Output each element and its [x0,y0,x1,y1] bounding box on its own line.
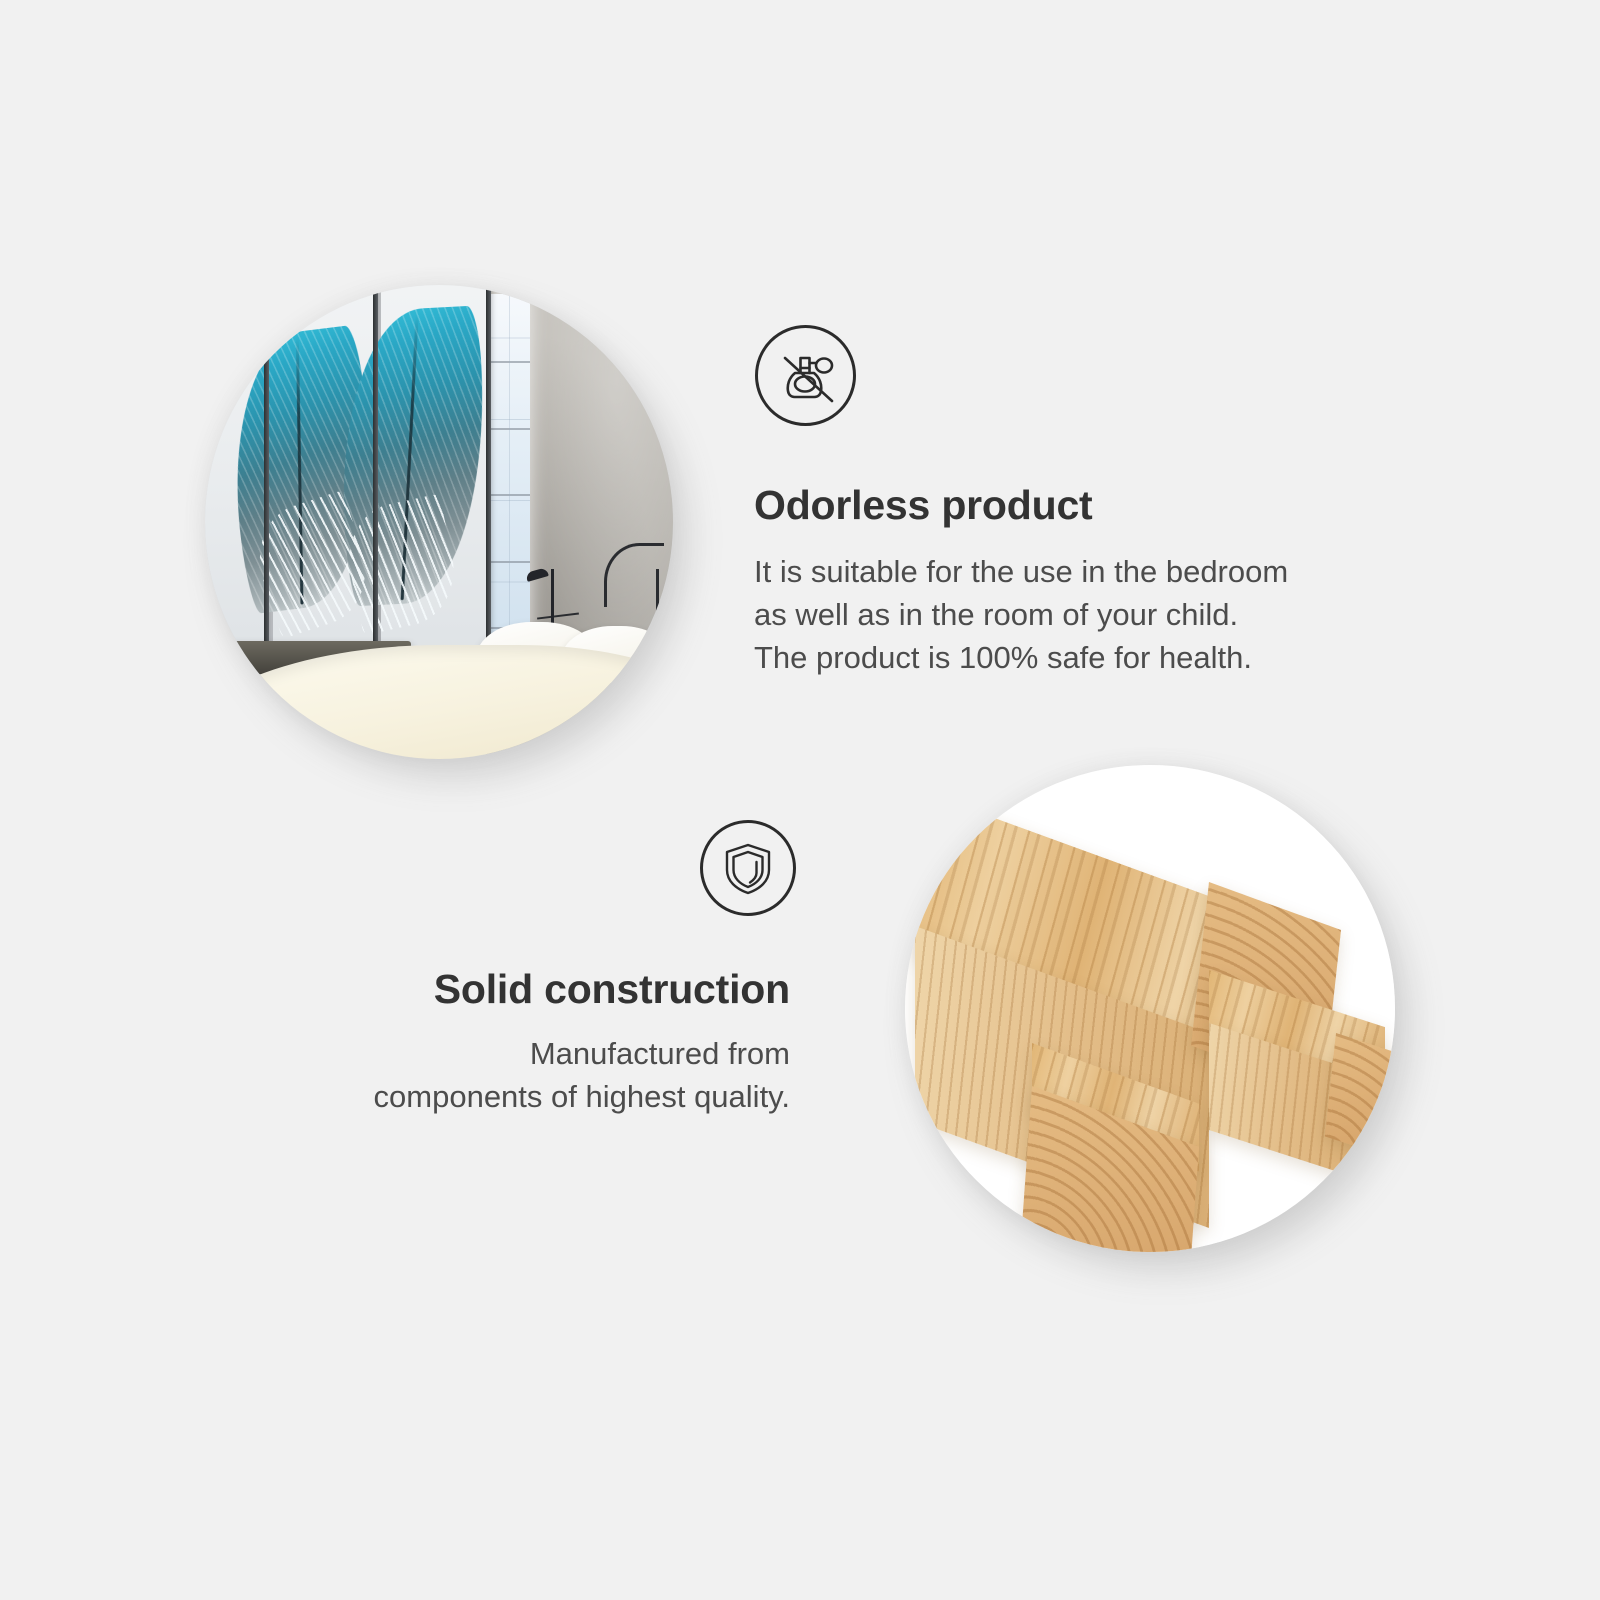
glass-block-window [488,294,530,664]
wood-photo-circle [905,765,1395,1252]
panel-divider [486,285,491,655]
bedroom-photo-circle [205,285,673,759]
body-line: components of highest quality. [374,1075,790,1118]
bedroom-scene [205,285,673,759]
feature-title-odorless: Odorless product [754,482,1093,529]
body-line: It is suitable for the use in the bedroo… [754,550,1288,593]
panel-divider [264,285,269,655]
body-line: The product is 100% safe for health. [754,636,1288,679]
wood-scene [905,765,1395,1252]
no-fragrance-icon [755,325,856,426]
feature-body-odorless: It is suitable for the use in the bedroo… [754,550,1288,679]
shield-icon [700,820,796,916]
wood-plank-end-grain [1325,1033,1395,1156]
body-line: Manufactured from [374,1032,790,1075]
feature-title-solid: Solid construction [434,966,790,1013]
feature-body-solid: Manufactured from components of highest … [374,1032,790,1118]
body-line: as well as in the room of your child. [754,593,1288,636]
panel-divider [373,285,378,655]
infographic-stage: Odorless product It is suitable for the … [0,0,1600,1600]
